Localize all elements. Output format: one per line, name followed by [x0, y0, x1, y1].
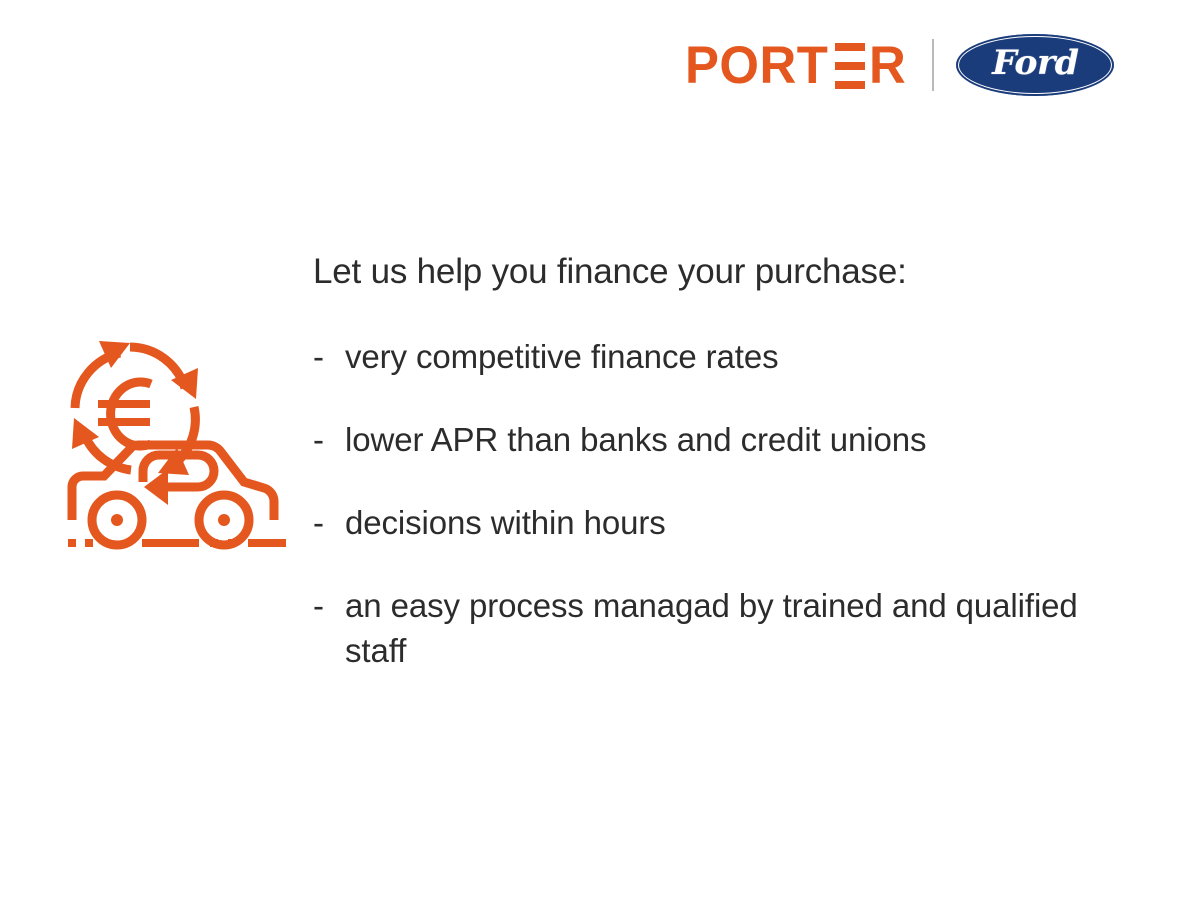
euro-c-arc [111, 382, 151, 446]
list-item-label: an easy process managad by trained and q… [345, 583, 1103, 673]
list-item-label: decisions within hours [345, 500, 1103, 545]
car-finance-euro-icon [58, 330, 298, 570]
car-rear-wheel-hub [218, 514, 230, 526]
porter-wordmark[interactable]: PORT R [685, 41, 908, 89]
list-item-label: very competitive finance rates [345, 334, 1103, 379]
car-finance-euro-icon-svg [58, 330, 298, 570]
ford-oval-logo[interactable]: Ford [956, 34, 1114, 96]
list-item: - an easy process managad by trained and… [313, 583, 1103, 673]
page-title: Let us help you finance your purchase: [313, 250, 1103, 294]
benefits-list: - very competitive finance rates - lower… [313, 334, 1103, 673]
porter-wordmark-suffix: R [869, 43, 906, 89]
bullet-marker: - [313, 417, 345, 462]
list-item: - very competitive finance rates [313, 334, 1103, 379]
list-item-label: lower APR than banks and credit unions [345, 417, 1103, 462]
brand-logo-lockup[interactable]: PORT R Ford [685, 34, 1114, 96]
bullet-marker: - [313, 334, 345, 379]
list-item: - lower APR than banks and credit unions [313, 417, 1103, 462]
uturn-arrow-head [144, 469, 168, 505]
list-item: - decisions within hours [313, 500, 1103, 545]
slide-canvas: PORT R Ford [0, 0, 1200, 900]
bullet-marker: - [313, 500, 345, 545]
ford-logo-text: Ford [992, 43, 1078, 83]
porter-wordmark-prefix: PORT [685, 43, 828, 89]
content-block: Let us help you finance your purchase: -… [313, 250, 1103, 673]
car-front-wheel-hub [111, 514, 123, 526]
logo-divider [932, 39, 934, 91]
bullet-marker: - [313, 583, 345, 628]
porter-stylized-e-icon [835, 43, 865, 89]
